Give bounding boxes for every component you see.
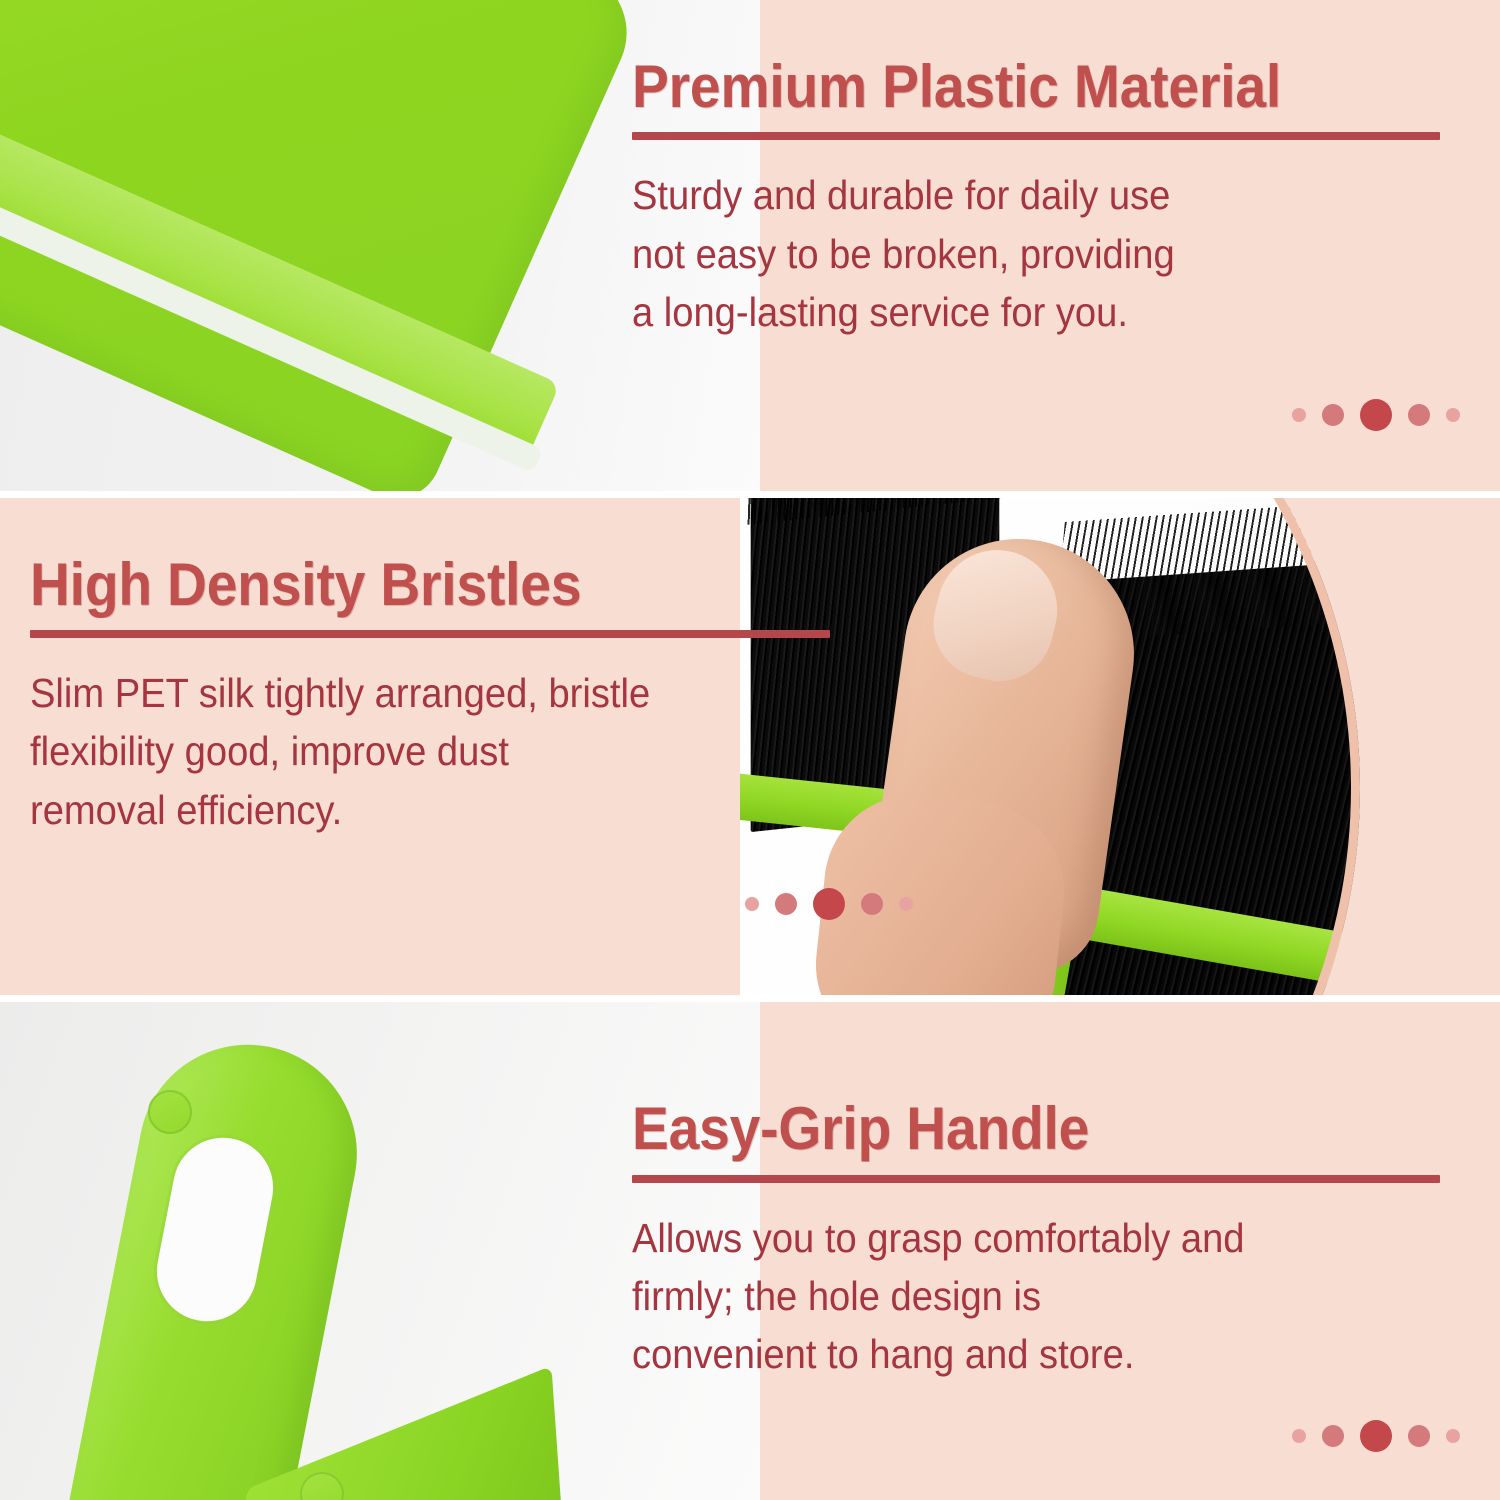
description-line: a long-lasting service for you. xyxy=(632,283,1383,341)
panel-divider-1 xyxy=(0,491,1500,498)
description-line: flexibility good, improve dust xyxy=(30,722,783,780)
description-line: Slim PET silk tightly arranged, bristle xyxy=(30,664,783,722)
divider-dot xyxy=(1408,404,1430,426)
divider-dot xyxy=(1360,399,1392,431)
divider-dot xyxy=(1292,1429,1306,1443)
divider-dot xyxy=(899,897,913,911)
divider-dot xyxy=(775,893,797,915)
description-line: Sturdy and durable for daily use xyxy=(632,166,1383,224)
description-line: convenient to hang and store. xyxy=(632,1325,1383,1383)
feature-description-1: Sturdy and durable for daily use not eas… xyxy=(632,166,1383,341)
five-dot-divider-1 xyxy=(1292,399,1460,431)
page-title-high-density-bristles: High Density Bristles xyxy=(30,554,775,616)
page-title-easy-grip-handle: Easy-Grip Handle xyxy=(632,1098,1375,1160)
divider-dot xyxy=(1446,1429,1460,1443)
divider-dot xyxy=(1408,1425,1430,1447)
feature-panel-easy-grip-handle: Easy-Grip Handle Allows you to grasp com… xyxy=(0,1002,1500,1500)
heading-underline-rule xyxy=(632,132,1440,140)
description-line: not easy to be broken, providing xyxy=(632,225,1383,283)
feature-description-3: Allows you to grasp comfortably and firm… xyxy=(632,1209,1383,1384)
feature-panel-high-density-bristles: High Density Bristles Slim PET silk tigh… xyxy=(0,498,1500,996)
divider-dot xyxy=(813,888,845,920)
divider-dot xyxy=(861,893,883,915)
divider-dot xyxy=(1446,408,1460,422)
page-title-premium-plastic-material: Premium Plastic Material xyxy=(632,56,1375,118)
divider-dot xyxy=(1292,408,1306,422)
product-feature-infographic: Premium Plastic Material Sturdy and dura… xyxy=(0,0,1500,1500)
five-dot-divider-2 xyxy=(745,888,913,920)
description-line: Allows you to grasp comfortably and xyxy=(632,1209,1383,1267)
divider-dot xyxy=(1322,404,1344,426)
five-dot-divider-3 xyxy=(1292,1420,1460,1452)
divider-dot xyxy=(1360,1420,1392,1452)
divider-dot xyxy=(1322,1425,1344,1447)
feature-panel-premium-plastic-material: Premium Plastic Material Sturdy and dura… xyxy=(0,0,1500,491)
description-line: firmly; the hole design is xyxy=(632,1267,1383,1325)
panel-divider-2 xyxy=(0,995,1500,1002)
heading-underline-rule xyxy=(632,1175,1440,1183)
feature-description-2: Slim PET silk tightly arranged, bristle … xyxy=(30,664,783,839)
feature-text-block-2: High Density Bristles Slim PET silk tigh… xyxy=(0,498,880,996)
divider-dot xyxy=(745,897,759,911)
heading-underline-rule xyxy=(30,630,830,638)
description-line: removal efficiency. xyxy=(30,781,783,839)
